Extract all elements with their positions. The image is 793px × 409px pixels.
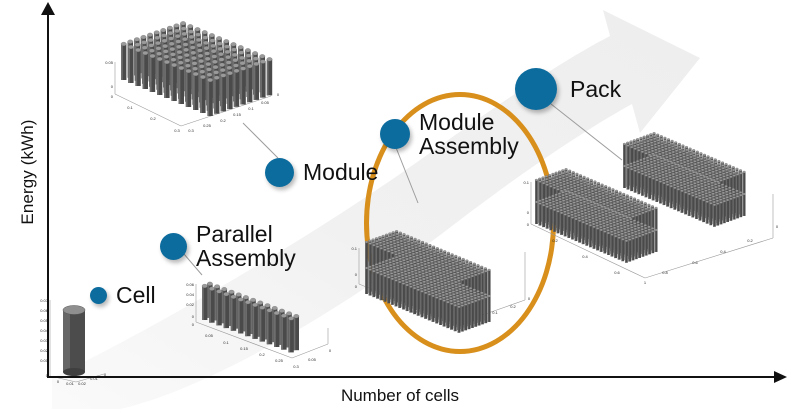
stage-marker-cell[interactable]: Cell — [90, 283, 156, 307]
svg-text:0.15: 0.15 — [240, 346, 249, 351]
svg-text:0.25: 0.25 — [275, 358, 284, 363]
svg-text:0: 0 — [57, 379, 60, 384]
x-axis-line — [47, 376, 780, 378]
stage-label-module-assembly: Module Assembly — [419, 110, 519, 158]
marker-dot-icon — [265, 158, 294, 187]
stage-label-module: Module — [303, 160, 378, 184]
svg-text:0.2: 0.2 — [220, 118, 226, 123]
svg-text:0.6: 0.6 — [692, 260, 698, 265]
svg-text:0: 0 — [111, 84, 114, 89]
svg-text:0.8: 0.8 — [662, 270, 668, 275]
arrow-right-icon — [774, 371, 787, 383]
svg-text:0.4: 0.4 — [720, 249, 726, 254]
svg-text:0.3: 0.3 — [293, 364, 299, 369]
svg-text:0.2: 0.2 — [150, 116, 156, 121]
svg-text:0: 0 — [355, 272, 358, 277]
svg-text:1: 1 — [644, 280, 647, 285]
module-3d-bar-inset: 0.0500 0.10.20.3 0.30.250.2 0.150.10.05 … — [85, 14, 285, 150]
pack-3d-bar-inset: 0.100 0.20.40.6 10.80.6 0.40.20 — [505, 122, 790, 302]
svg-text:0: 0 — [355, 284, 358, 289]
figure-canvas: 0.070.06 0.050.04 0.030.02 0.010 00.010.… — [0, 0, 793, 409]
svg-text:0.02: 0.02 — [186, 302, 195, 307]
svg-text:0: 0 — [111, 94, 114, 99]
svg-text:0: 0 — [192, 314, 195, 319]
x-axis-label: Number of cells — [300, 386, 500, 406]
marker-dot-icon — [380, 119, 410, 149]
y-axis-label: Energy (kWh) — [18, 102, 38, 242]
svg-text:0.01: 0.01 — [66, 381, 75, 386]
svg-text:0.05: 0.05 — [205, 333, 214, 338]
svg-text:0.3: 0.3 — [174, 128, 180, 133]
svg-text:0.04: 0.04 — [186, 292, 195, 297]
svg-text:0.1: 0.1 — [492, 310, 498, 315]
svg-text:0.1: 0.1 — [248, 106, 254, 111]
stage-marker-parallel-assembly[interactable]: Parallel Assembly — [160, 222, 296, 270]
arrow-up-icon — [41, 2, 55, 15]
svg-text:0.05: 0.05 — [308, 357, 317, 362]
svg-text:0.4: 0.4 — [582, 254, 588, 259]
parallel-assembly-3d-bar-inset: 0.060.04 0.0200 0.050.10.15 0.20.250.3 0… — [160, 262, 335, 380]
stage-label-pack: Pack — [570, 77, 621, 101]
stage-marker-module-assembly[interactable]: Module Assembly — [380, 110, 519, 158]
stage-marker-module[interactable]: Module — [265, 158, 378, 187]
svg-text:0: 0 — [776, 224, 779, 229]
svg-text:0.1: 0.1 — [351, 246, 357, 251]
svg-text:0.06: 0.06 — [186, 282, 195, 287]
svg-text:0.25: 0.25 — [203, 123, 212, 128]
stage-marker-pack[interactable]: Pack — [515, 68, 621, 110]
svg-text:0: 0 — [527, 210, 530, 215]
svg-text:0.05: 0.05 — [105, 60, 114, 65]
stage-label-parallel-assembly: Parallel Assembly — [196, 222, 296, 270]
svg-text:0.02: 0.02 — [78, 381, 87, 386]
svg-text:0.1: 0.1 — [523, 180, 529, 185]
svg-text:0.1: 0.1 — [127, 105, 133, 110]
svg-text:0.15: 0.15 — [233, 112, 242, 117]
stage-label-cell: Cell — [116, 283, 156, 307]
svg-text:0.6: 0.6 — [614, 270, 620, 275]
svg-text:0.2: 0.2 — [747, 238, 753, 243]
svg-text:0: 0 — [277, 92, 280, 97]
svg-text:0.2: 0.2 — [259, 352, 265, 357]
svg-text:0.2: 0.2 — [552, 238, 558, 243]
svg-text:0: 0 — [192, 322, 195, 327]
marker-dot-icon — [160, 233, 187, 260]
marker-dot-icon — [515, 68, 557, 110]
svg-text:0: 0 — [527, 222, 530, 227]
svg-text:0: 0 — [329, 348, 332, 353]
svg-text:0.05: 0.05 — [261, 100, 270, 105]
svg-text:0.2: 0.2 — [510, 304, 516, 309]
marker-dot-icon — [90, 287, 107, 304]
y-axis-line — [47, 12, 49, 377]
svg-text:0.3: 0.3 — [188, 128, 194, 133]
svg-text:0.1: 0.1 — [223, 340, 229, 345]
